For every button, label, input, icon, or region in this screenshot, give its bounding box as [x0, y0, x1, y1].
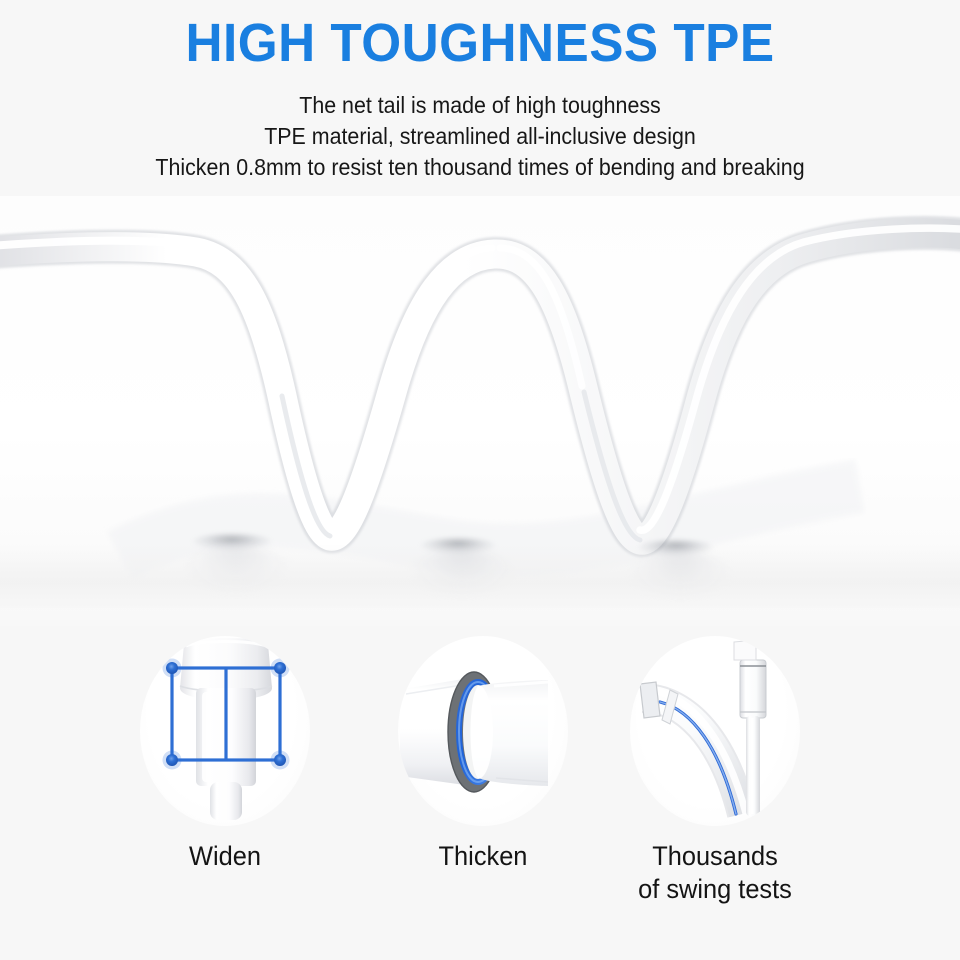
feature-label-line1: Thicken — [439, 841, 528, 871]
feature-row: Widen — [0, 636, 960, 936]
connector-width-measure-icon — [140, 636, 310, 826]
subtitle-block: The net tail is made of high toughness T… — [0, 90, 960, 183]
feature-swing-tests[interactable]: Thousands of swing tests — [595, 636, 835, 906]
subtitle-line-3: Thicken 0.8mm to resist ten thousand tim… — [34, 152, 927, 183]
cable-reflection — [628, 552, 732, 598]
feature-label: Thousands of swing tests — [602, 840, 828, 906]
product-feature-page: HIGH TOUGHNESS TPE The net tail is made … — [0, 0, 960, 960]
cable-reflection — [182, 546, 290, 592]
feature-thicken[interactable]: Thicken — [363, 636, 603, 873]
cable-swing-bend-test-icon — [630, 636, 800, 826]
hero-cable-photo — [0, 196, 960, 626]
feature-label-line1: Thousands — [652, 841, 778, 871]
subtitle-line-2: TPE material, streamlined all-inclusive … — [34, 121, 927, 152]
page-title: HIGH TOUGHNESS TPE — [24, 14, 936, 72]
feature-label: Widen — [112, 840, 338, 873]
feature-label-line1: Widen — [189, 841, 261, 871]
feature-label-line2: of swing tests — [602, 873, 828, 906]
subtitle-line-1: The net tail is made of high toughness — [34, 90, 927, 121]
cable-reflection — [410, 550, 514, 596]
feature-label: Thicken — [370, 840, 596, 873]
feature-widen[interactable]: Widen — [105, 636, 345, 873]
cable-wall-thickness-icon — [398, 636, 568, 826]
